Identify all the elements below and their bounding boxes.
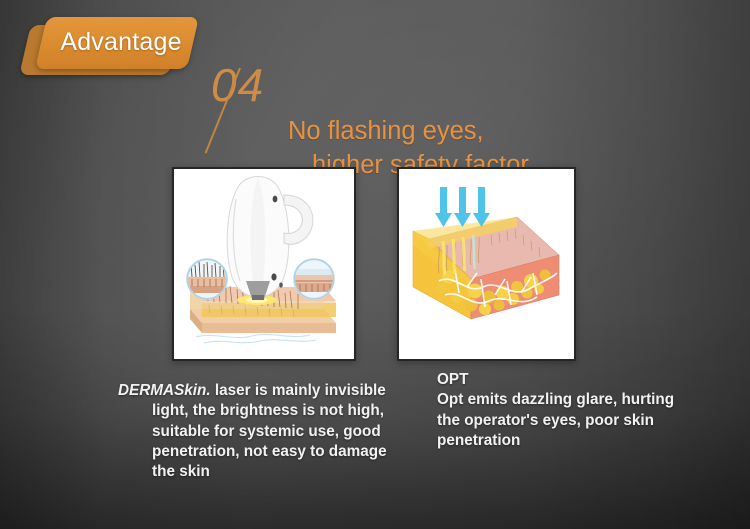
badge-label: Advantage xyxy=(45,16,197,68)
caption-right-line-3: penetration xyxy=(437,431,707,451)
headline-line-1: No flashing eyes, xyxy=(288,117,484,145)
dermaskin-laser-illustration xyxy=(174,169,354,359)
caption-left-line-4: penetration, not easy to damage xyxy=(118,442,448,462)
caption-right-line-1: Opt emits dazzling glare, hurting xyxy=(437,390,707,410)
caption-left-line-1-rest: laser is mainly invisible xyxy=(211,382,386,399)
caption-opt: OPT Opt emits dazzling glare, hurting th… xyxy=(437,370,707,451)
caption-left-line-5: the skin xyxy=(118,462,448,482)
caption-right-title: OPT xyxy=(437,370,707,390)
opt-skin-illustration xyxy=(399,169,574,359)
advantage-slide: Advantage 04 No flashing eyes, higher sa… xyxy=(0,0,750,529)
caption-left-line-3: suitable for systemic use, good xyxy=(118,422,448,442)
advantage-badge: Advantage xyxy=(25,16,215,78)
brand-name: DERMASkin. xyxy=(118,382,211,399)
opt-light-arrows xyxy=(435,187,490,227)
inset-before xyxy=(187,259,227,299)
panel-opt-illustration xyxy=(397,167,576,361)
caption-right-line-2: the operator's eyes, poor skin xyxy=(437,411,707,431)
caption-dermaskin: DERMASkin. laser is mainly invisible lig… xyxy=(118,381,448,483)
caption-left-line-1: DERMASkin. laser is mainly invisible xyxy=(118,381,448,401)
caption-left-line-2: light, the brightness is not high, xyxy=(118,401,448,421)
panel-dermaskin-laser xyxy=(172,167,356,361)
